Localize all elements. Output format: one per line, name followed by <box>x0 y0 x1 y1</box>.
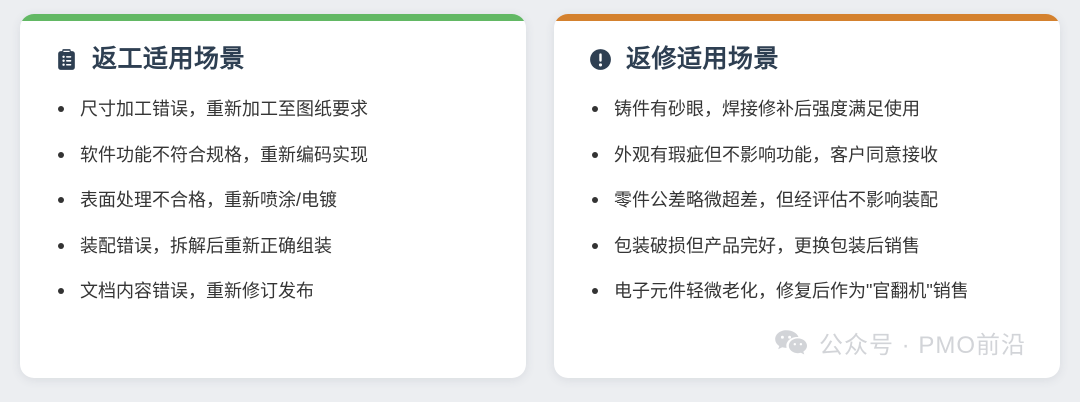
bullet-icon <box>58 288 64 294</box>
list-item: 装配错误，拆解后重新正确组装 <box>54 235 492 258</box>
bullet-icon <box>58 197 64 203</box>
card-body-repair: 返修适用场景 铸件有砂眼，焊接修补后强度满足使用 外观有瑕疵但不影响功能，客户同… <box>554 21 1060 313</box>
bullet-icon <box>592 243 598 249</box>
repair-scenario-list: 铸件有砂眼，焊接修补后强度满足使用 外观有瑕疵但不影响功能，客户同意接收 零件公… <box>588 98 1026 303</box>
rework-scenario-list: 尺寸加工错误，重新加工至图纸要求 软件功能不符合规格，重新编码实现 表面处理不合… <box>54 98 492 303</box>
card-title-rework: 返工适用场景 <box>54 47 492 72</box>
list-item-label: 装配错误，拆解后重新正确组装 <box>80 236 332 256</box>
list-item: 零件公差略微超差，但经评估不影响装配 <box>588 189 1026 212</box>
bullet-icon <box>58 152 64 158</box>
watermark: 公众号 · PMO前沿 <box>774 325 1026 360</box>
wechat-icon <box>774 328 808 358</box>
list-item-label: 软件功能不符合规格，重新编码实现 <box>80 145 368 165</box>
bullet-icon <box>58 106 64 112</box>
card-title-repair: 返修适用场景 <box>588 47 1026 72</box>
list-item: 包装破损但产品完好，更换包装后销售 <box>588 235 1026 258</box>
bullet-icon <box>592 106 598 112</box>
list-item: 外观有瑕疵但不影响功能，客户同意接收 <box>588 144 1026 167</box>
card-title-text-rework: 返工适用场景 <box>92 47 245 72</box>
list-item-label: 文档内容错误，重新修订发布 <box>80 281 314 301</box>
bullet-icon <box>58 243 64 249</box>
repair-card: 返修适用场景 铸件有砂眼，焊接修补后强度满足使用 外观有瑕疵但不影响功能，客户同… <box>554 14 1060 378</box>
list-item-label: 外观有瑕疵但不影响功能，客户同意接收 <box>614 145 938 165</box>
cards-board: 返工适用场景 尺寸加工错误，重新加工至图纸要求 软件功能不符合规格，重新编码实现… <box>0 0 1080 402</box>
list-item-label: 表面处理不合格，重新喷涂/电镀 <box>80 190 337 210</box>
list-item: 文档内容错误，重新修订发布 <box>54 280 492 303</box>
list-item-label: 零件公差略微超差，但经评估不影响装配 <box>614 190 938 210</box>
card-title-text-repair: 返修适用场景 <box>626 47 779 72</box>
list-item-label: 铸件有砂眼，焊接修补后强度满足使用 <box>614 99 920 119</box>
exclamation-circle-icon <box>588 47 613 72</box>
watermark-text: 公众号 · PMO前沿 <box>819 325 1026 360</box>
list-item-label: 电子元件轻微老化，修复后作为"官翻机"销售 <box>614 281 969 301</box>
list-item: 尺寸加工错误，重新加工至图纸要求 <box>54 98 492 121</box>
list-item: 表面处理不合格，重新喷涂/电镀 <box>54 189 492 212</box>
list-item: 软件功能不符合规格，重新编码实现 <box>54 144 492 167</box>
bullet-icon <box>592 152 598 158</box>
list-item-label: 包装破损但产品完好，更换包装后销售 <box>614 236 920 256</box>
card-accent-bar-rework <box>20 14 526 21</box>
list-item-label: 尺寸加工错误，重新加工至图纸要求 <box>80 99 368 119</box>
rework-card: 返工适用场景 尺寸加工错误，重新加工至图纸要求 软件功能不符合规格，重新编码实现… <box>20 14 526 378</box>
card-accent-bar-repair <box>554 14 1060 21</box>
bullet-icon <box>592 288 598 294</box>
list-item: 电子元件轻微老化，修复后作为"官翻机"销售 <box>588 280 1026 303</box>
card-body-rework: 返工适用场景 尺寸加工错误，重新加工至图纸要求 软件功能不符合规格，重新编码实现… <box>20 21 526 313</box>
bullet-icon <box>592 197 598 203</box>
clipboard-list-icon <box>54 47 79 72</box>
list-item: 铸件有砂眼，焊接修补后强度满足使用 <box>588 98 1026 121</box>
